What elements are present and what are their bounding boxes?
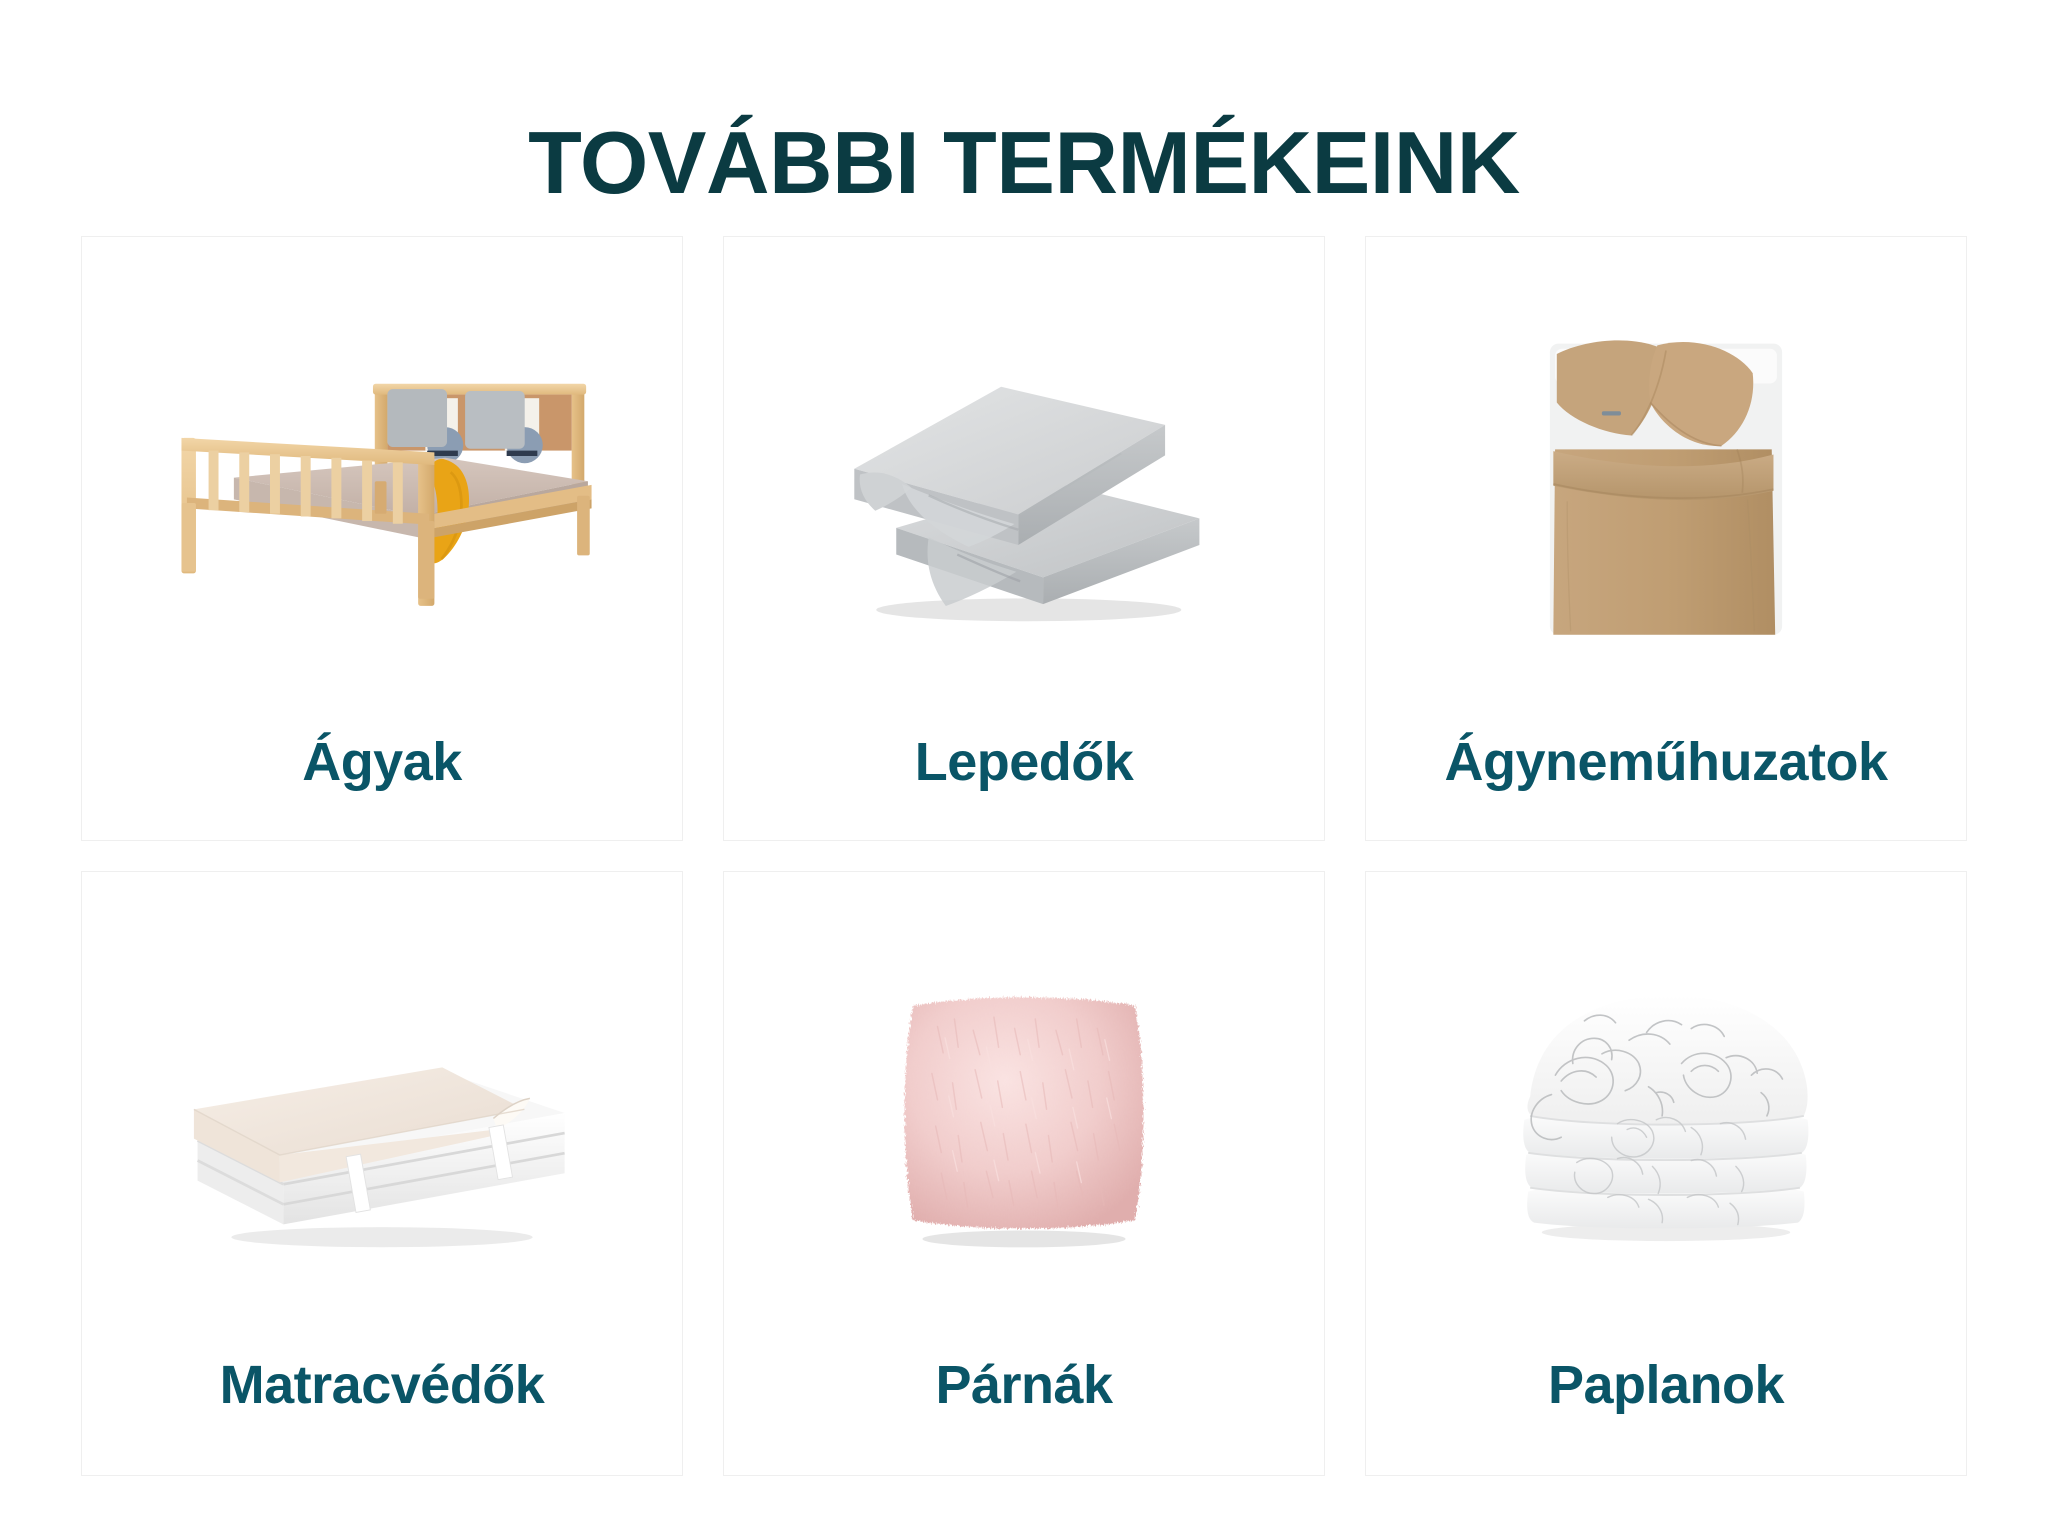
- category-image-duvet-covers: [1366, 237, 1966, 730]
- category-label-beds: Ágyak: [82, 730, 682, 840]
- category-image-sheets: [724, 237, 1324, 730]
- category-label-mattress-protectors: Matracvédők: [82, 1353, 682, 1475]
- bed-frame-icon: [147, 344, 617, 624]
- category-label-duvet-covers: Ágyneműhuzatok: [1366, 730, 1966, 840]
- category-label-duvets: Paplanok: [1366, 1353, 1966, 1475]
- category-image-beds: [82, 237, 682, 730]
- page-title: TOVÁBBI TERMÉKEINK: [0, 111, 2048, 215]
- category-card-sheets[interactable]: Lepedők: [723, 236, 1325, 841]
- category-label-sheets: Lepedők: [724, 730, 1324, 840]
- product-category-grid: Ágyak: [81, 236, 1967, 1476]
- category-image-duvets: [1366, 872, 1966, 1353]
- product-categories-page: TOVÁBBI TERMÉKEINK: [0, 0, 2048, 1536]
- category-card-duvets[interactable]: Paplanok: [1365, 871, 1967, 1476]
- category-image-mattress-protectors: [82, 872, 682, 1353]
- category-card-pillows[interactable]: Párnák: [723, 871, 1325, 1476]
- mattress-protector-icon: [172, 976, 592, 1250]
- category-card-duvet-covers[interactable]: Ágyneműhuzatok: [1365, 236, 1967, 841]
- folded-sheets-icon: [814, 341, 1234, 627]
- folded-duvet-icon: [1501, 982, 1831, 1244]
- category-image-pillows: [724, 872, 1324, 1353]
- category-card-beds[interactable]: Ágyak: [81, 236, 683, 841]
- category-label-pillows: Párnák: [724, 1353, 1324, 1475]
- category-card-mattress-protectors[interactable]: Matracvédők: [81, 871, 683, 1476]
- duvet-cover-set-icon: [1536, 319, 1796, 649]
- fluffy-cushion-icon: [883, 972, 1165, 1254]
